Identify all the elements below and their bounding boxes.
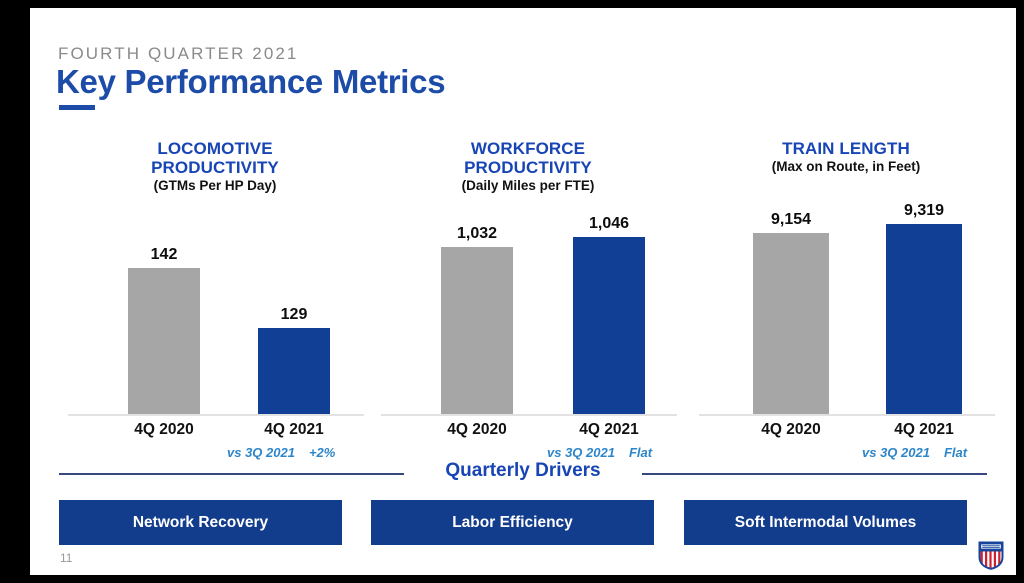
comparison-note-delta: Flat [629,445,652,460]
metric-panel-locomotive-productivity: LOCOMOTIVE PRODUCTIVITY (GTMs Per HP Day… [59,133,371,473]
category-label-4q-2021: 4Q 2021 [243,421,345,439]
category-label-4q-2021: 4Q 2021 [873,421,975,439]
quarterly-drivers-header: Quarterly Drivers [59,460,987,486]
bar-4q-2021 [573,237,645,414]
bar-value-4q-2020: 9,154 [745,211,837,229]
bar-chart: 9,154 9,319 4Q 2020 4Q 2021 vs 3Q 2021Fl… [690,133,1002,473]
comparison-note-delta: +2% [309,445,335,460]
bar-chart: 1,032 1,046 4Q 2020 4Q 2021 vs 3Q 2021Fl… [372,133,684,473]
comparison-note: vs 3Q 2021Flat [862,445,967,460]
driver-box-soft-intermodal-volumes[interactable]: Soft Intermodal Volumes [684,500,967,545]
bar-value-4q-2021: 9,319 [878,202,970,220]
bar-value-4q-2020: 1,032 [431,225,523,243]
metric-panel-train-length: TRAIN LENGTH (Max on Route, in Feet) 9,1… [690,133,1002,473]
chart-baseline [381,414,677,416]
chart-baseline [699,414,995,416]
comparison-note-label: vs 3Q 2021 [227,445,295,460]
driver-box-labor-efficiency[interactable]: Labor Efficiency [371,500,654,545]
category-label-4q-2020: 4Q 2020 [740,421,842,439]
driver-box-label: Labor Efficiency [452,514,573,532]
slide-eyebrow: FOURTH QUARTER 2021 [58,44,299,64]
slide-frame: FOURTH QUARTER 2021 Key Performance Metr… [0,0,1024,583]
comparison-note-label: vs 3Q 2021 [547,445,615,460]
page-title: Key Performance Metrics [56,63,445,101]
page-number: 11 [60,551,72,565]
driver-box-label: Soft Intermodal Volumes [735,514,916,532]
title-accent-rule [59,105,95,110]
bar-4q-2020 [441,247,513,414]
union-pacific-shield-logo [978,541,1004,570]
driver-box-label: Network Recovery [133,514,268,532]
bar-value-4q-2021: 129 [258,306,330,324]
category-label-4q-2021: 4Q 2021 [558,421,660,439]
bar-chart: 142 129 4Q 2020 4Q 2021 vs 3Q 2021+2% [59,133,371,473]
bar-4q-2020 [753,233,829,414]
metric-panel-workforce-productivity: WORKFORCE PRODUCTIVITY (Daily Miles per … [372,133,684,473]
bar-4q-2020 [128,268,200,414]
bar-value-4q-2020: 142 [128,246,200,264]
comparison-note: vs 3Q 2021Flat [547,445,652,460]
chart-baseline [68,414,364,416]
comparison-note: vs 3Q 2021+2% [227,445,335,460]
slide-canvas: FOURTH QUARTER 2021 Key Performance Metr… [30,8,1016,575]
driver-box-network-recovery[interactable]: Network Recovery [59,500,342,545]
quarterly-drivers-title: Quarterly Drivers [59,460,987,482]
bar-value-4q-2021: 1,046 [563,215,655,233]
category-label-4q-2020: 4Q 2020 [426,421,528,439]
comparison-note-delta: Flat [944,445,967,460]
bar-4q-2021 [258,328,330,414]
category-label-4q-2020: 4Q 2020 [113,421,215,439]
bar-4q-2021 [886,224,962,414]
comparison-note-label: vs 3Q 2021 [862,445,930,460]
